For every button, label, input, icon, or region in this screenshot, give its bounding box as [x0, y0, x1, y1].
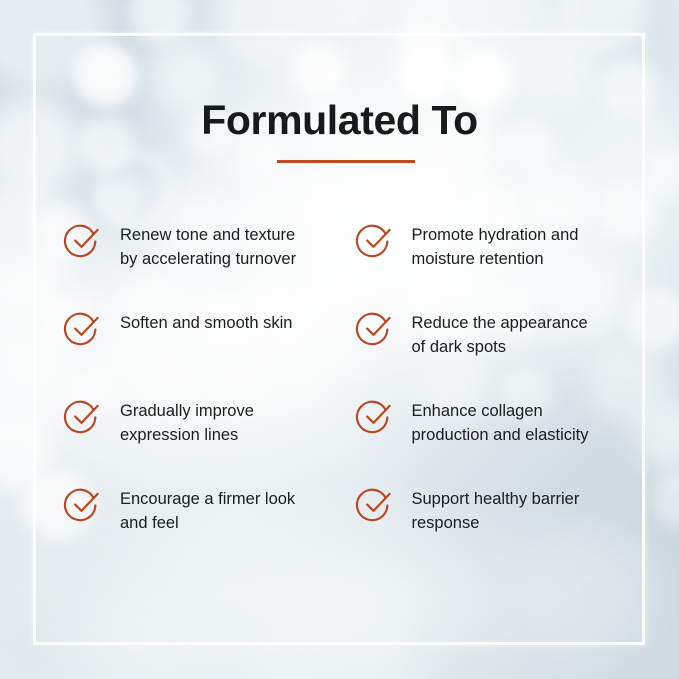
benefit-text: Renew tone and texture by accelerating t…: [120, 219, 296, 271]
check-circle-icon: [64, 221, 102, 259]
infographic-panel: Formulated To Renew tone and texture by …: [0, 0, 679, 679]
benefit-text: Support healthy barrier response: [412, 483, 580, 535]
benefit-item: Gradually improve expression lines: [64, 395, 340, 483]
benefit-item: Reduce the appearance of dark spots: [356, 307, 679, 395]
benefits-columns: Renew tone and texture by accelerating t…: [0, 219, 679, 571]
content-area: Formulated To Renew tone and texture by …: [0, 0, 679, 679]
benefit-item: Encourage a firmer look and feel: [64, 483, 340, 571]
check-circle-icon: [64, 397, 102, 435]
benefits-left-column: Renew tone and texture by accelerating t…: [0, 219, 340, 571]
check-circle-icon: [64, 309, 102, 347]
benefit-text: Promote hydration and moisture retention: [412, 219, 579, 271]
check-circle-icon: [64, 485, 102, 523]
benefit-text: Reduce the appearance of dark spots: [412, 307, 588, 359]
benefits-right-column: Promote hydration and moisture retention…: [340, 219, 679, 571]
check-circle-icon: [356, 221, 394, 259]
benefit-text: Soften and smooth skin: [120, 307, 292, 335]
benefit-item: Soften and smooth skin: [64, 307, 340, 395]
benefit-text: Gradually improve expression lines: [120, 395, 254, 447]
check-circle-icon: [356, 485, 394, 523]
benefit-item: Renew tone and texture by accelerating t…: [64, 219, 340, 307]
benefit-item: Promote hydration and moisture retention: [356, 219, 679, 307]
title-underline-rule: [277, 160, 415, 163]
benefit-text: Encourage a firmer look and feel: [120, 483, 295, 535]
benefit-item: Enhance collagen production and elastici…: [356, 395, 679, 483]
benefit-item: Support healthy barrier response: [356, 483, 679, 571]
check-circle-icon: [356, 397, 394, 435]
check-circle-icon: [356, 309, 394, 347]
benefit-text: Enhance collagen production and elastici…: [412, 395, 589, 447]
page-title: Formulated To: [0, 100, 679, 141]
